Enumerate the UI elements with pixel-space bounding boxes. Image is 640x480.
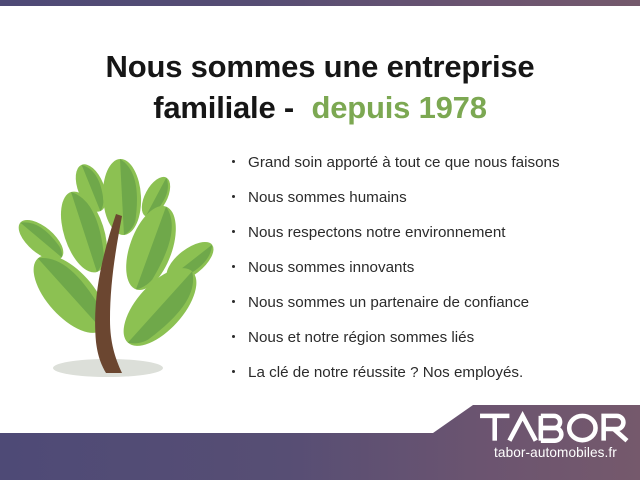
- list-item-label: Nous sommes innovants: [248, 259, 414, 276]
- bullet-dot-icon: [232, 335, 235, 338]
- value-bullet-list: Grand soin apporté à tout ce que nous fa…: [231, 151, 631, 396]
- brand-logo[interactable]: tabor-automobiles.fr: [478, 411, 633, 461]
- tabor-wordmark-icon: [478, 411, 630, 444]
- footer-banner: tabor-automobiles.fr: [0, 400, 640, 480]
- leaf-center-top: [101, 158, 143, 236]
- list-item: Nous sommes innovants: [231, 256, 631, 291]
- list-item-label: La clé de notre réussite ? Nos employés.: [248, 364, 523, 381]
- bullet-dot-icon: [232, 230, 235, 233]
- top-accent-bar: [0, 0, 640, 6]
- bullet-dot-icon: [232, 195, 235, 198]
- page-title-line-2-prefix: familiale -: [153, 90, 302, 125]
- bullet-dot-icon: [232, 160, 235, 163]
- list-item: Nous respectons notre environnement: [231, 221, 631, 256]
- bullet-dot-icon: [232, 265, 235, 268]
- list-item: Nous sommes humains: [231, 186, 631, 221]
- page-title: Nous sommes une entreprise familiale - d…: [0, 47, 640, 127]
- page-title-line-1: Nous sommes une entreprise: [106, 49, 535, 84]
- page-title-line-2: familiale - depuis 1978: [0, 88, 640, 127]
- page-title-accent: depuis 1978: [311, 90, 486, 125]
- brand-website[interactable]: tabor-automobiles.fr: [478, 445, 633, 461]
- list-item: Nous sommes un partenaire de confiance: [231, 291, 631, 326]
- list-item: La clé de notre réussite ? Nos employés.: [231, 361, 631, 396]
- list-item-label: Nous sommes un partenaire de confiance: [248, 294, 529, 311]
- list-item-label: Nous respectons notre environnement: [248, 224, 506, 241]
- list-item: Grand soin apporté à tout ce que nous fa…: [231, 151, 631, 186]
- list-item: Nous et notre région sommes liés: [231, 326, 631, 361]
- list-item-label: Nous sommes humains: [248, 189, 407, 206]
- tree-illustration: [12, 152, 220, 390]
- list-item-label: Nous et notre région sommes liés: [248, 329, 474, 346]
- list-item-label: Grand soin apporté à tout ce que nous fa…: [248, 154, 560, 171]
- bullet-dot-icon: [232, 300, 235, 303]
- bullet-dot-icon: [232, 370, 235, 373]
